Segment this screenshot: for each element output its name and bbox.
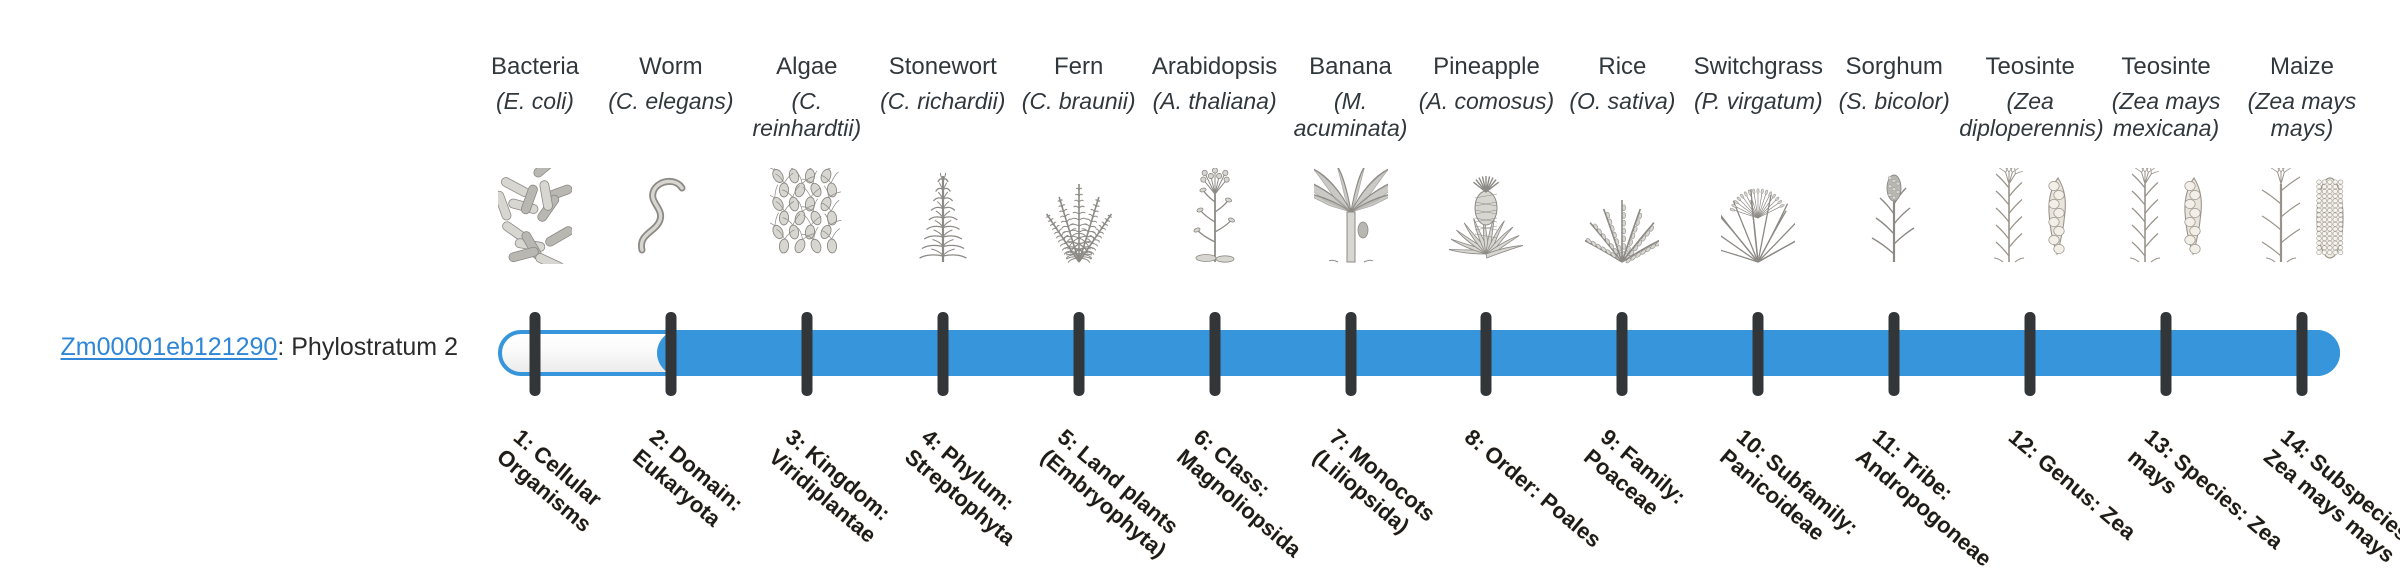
species-column-8: Pineapple(A. comosus) bbox=[1416, 52, 1558, 115]
species-common-name: Pineapple bbox=[1416, 52, 1558, 82]
gene-id-link[interactable]: Zm00001eb121290 bbox=[60, 333, 277, 361]
phylostratum-fill bbox=[657, 330, 2340, 376]
species-column-12: Teosinte(Zea diploperennis) bbox=[1959, 52, 2101, 142]
species-scientific-name: (Zea mays mexicana) bbox=[2095, 88, 2237, 142]
species-column-5: Fern(C. braunii) bbox=[1008, 52, 1150, 115]
gene-phylostratum-value: Phylostratum 2 bbox=[291, 333, 458, 361]
species-scientific-name: (O. sativa) bbox=[1551, 88, 1693, 115]
tick-mark-9[interactable] bbox=[1617, 312, 1628, 396]
tick-mark-1[interactable] bbox=[530, 312, 541, 396]
species-common-name: Algae bbox=[736, 52, 878, 82]
tick-mark-5[interactable] bbox=[1073, 312, 1084, 396]
species-common-name: Fern bbox=[1008, 52, 1150, 82]
species-scientific-name: (P. virgatum) bbox=[1687, 88, 1829, 115]
tick-mark-14[interactable] bbox=[2297, 312, 2308, 396]
species-common-name: Maize bbox=[2231, 52, 2373, 82]
banana-plant-icon bbox=[1280, 168, 1422, 264]
tick-mark-3[interactable] bbox=[801, 312, 812, 396]
species-column-13: Teosinte(Zea mays mexicana) bbox=[2095, 52, 2237, 142]
tick-mark-8[interactable] bbox=[1481, 312, 1492, 396]
species-scientific-name: (C. richardii) bbox=[872, 88, 1014, 115]
species-column-9: Rice(O. sativa) bbox=[1551, 52, 1693, 115]
tick-mark-13[interactable] bbox=[2161, 312, 2172, 396]
bacteria-rods-icon bbox=[464, 168, 606, 264]
green-algae-cells-icon bbox=[736, 168, 878, 264]
species-common-name: Switchgrass bbox=[1687, 52, 1829, 82]
species-column-2: Worm(C. elegans) bbox=[600, 52, 742, 115]
species-scientific-name: (C. braunii) bbox=[1008, 88, 1150, 115]
tick-mark-6[interactable] bbox=[1209, 312, 1220, 396]
phylostratigraphy-timeline: Zm00001eb121290: Phylostratum 2 Bacteria… bbox=[0, 0, 2400, 580]
maize-plant-ear-icon bbox=[2231, 168, 2373, 264]
species-scientific-name: (E. coli) bbox=[464, 88, 606, 115]
tick-mark-10[interactable] bbox=[1753, 312, 1764, 396]
species-common-name: Bacteria bbox=[464, 52, 606, 82]
switchgrass-plant-icon bbox=[1687, 168, 1829, 264]
species-scientific-name: (A. thaliana) bbox=[1144, 88, 1286, 115]
stonewort-alga-icon bbox=[872, 168, 1014, 264]
species-common-name: Worm bbox=[600, 52, 742, 82]
teosinte-plant-ear-icon bbox=[1959, 168, 2101, 264]
teosinte-mexicana-plant-ear-icon bbox=[2095, 168, 2237, 264]
species-common-name: Banana bbox=[1280, 52, 1422, 82]
tick-mark-11[interactable] bbox=[1889, 312, 1900, 396]
species-common-name: Teosinte bbox=[2095, 52, 2237, 82]
tick-mark-2[interactable] bbox=[665, 312, 676, 396]
rice-plant-icon bbox=[1551, 168, 1693, 264]
species-column-6: Arabidopsis(A. thaliana) bbox=[1144, 52, 1286, 115]
gene-label: Zm00001eb121290: Phylostratum 2 bbox=[38, 332, 458, 362]
species-scientific-name: (S. bicolor) bbox=[1823, 88, 1965, 115]
species-common-name: Teosinte bbox=[1959, 52, 2101, 82]
sorghum-plant-icon bbox=[1823, 168, 1965, 264]
species-scientific-name: (M. acuminata) bbox=[1280, 88, 1422, 142]
arabidopsis-plant-icon bbox=[1144, 168, 1286, 264]
pineapple-plant-icon bbox=[1416, 168, 1558, 264]
species-column-4: Stonewort(C. richardii) bbox=[872, 52, 1014, 115]
species-common-name: Rice bbox=[1551, 52, 1693, 82]
species-column-3: Algae(C. reinhardtii) bbox=[736, 52, 878, 142]
gene-phylostratum-text: : Phylostratum 2 bbox=[277, 333, 458, 361]
gene-label-separator: : bbox=[277, 333, 291, 361]
species-column-11: Sorghum(S. bicolor) bbox=[1823, 52, 1965, 115]
species-common-name: Stonewort bbox=[872, 52, 1014, 82]
species-scientific-name: (Zea diploperennis) bbox=[1959, 88, 2101, 142]
species-column-7: Banana(M. acuminata) bbox=[1280, 52, 1422, 142]
fern-frond-icon bbox=[1008, 168, 1150, 264]
tick-mark-4[interactable] bbox=[937, 312, 948, 396]
species-scientific-name: (C. elegans) bbox=[600, 88, 742, 115]
species-scientific-name: (Zea mays mays) bbox=[2231, 88, 2373, 142]
tick-mark-7[interactable] bbox=[1345, 312, 1356, 396]
species-common-name: Arabidopsis bbox=[1144, 52, 1286, 82]
species-column-10: Switchgrass(P. virgatum) bbox=[1687, 52, 1829, 115]
species-scientific-name: (C. reinhardtii) bbox=[736, 88, 878, 142]
nematode-worm-icon bbox=[600, 168, 742, 264]
tick-mark-12[interactable] bbox=[2025, 312, 2036, 396]
species-common-name: Sorghum bbox=[1823, 52, 1965, 82]
species-scientific-name: (A. comosus) bbox=[1416, 88, 1558, 115]
species-column-1: Bacteria(E. coli) bbox=[464, 52, 606, 115]
species-column-14: Maize(Zea mays mays) bbox=[2231, 52, 2373, 142]
